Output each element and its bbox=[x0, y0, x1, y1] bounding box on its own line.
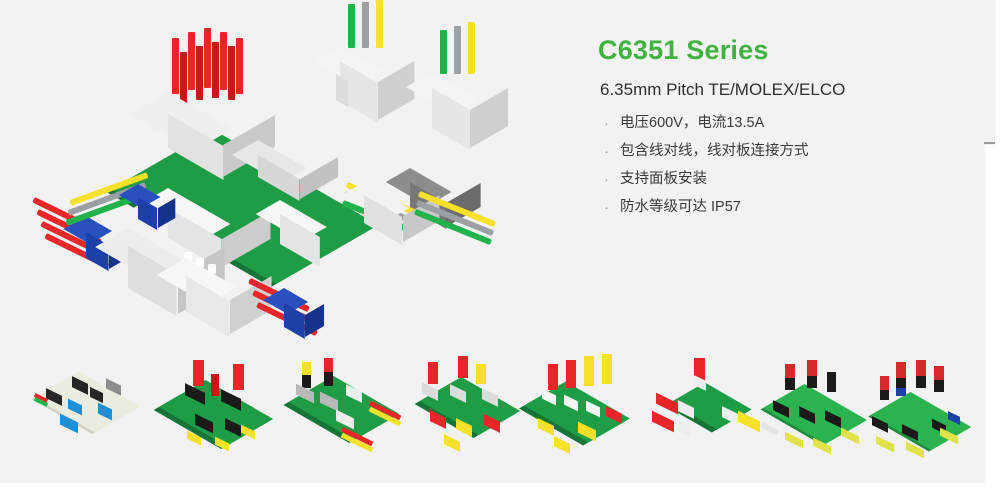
yellow-pin bbox=[376, 0, 383, 48]
product-subtitle: 6.35mm Pitch TE/MOLEX/ELCO bbox=[600, 80, 928, 100]
grey-pin bbox=[362, 2, 369, 48]
bullet-icon: · bbox=[604, 198, 620, 217]
spec-list: · 电压600V，电流13.5A · 包含线对线，线对板连接方式 · 支持面板安… bbox=[598, 114, 928, 217]
list-item[interactable] bbox=[20, 348, 170, 480]
thumb-board bbox=[34, 372, 140, 433]
bullet-icon: · bbox=[604, 170, 620, 189]
red-pin bbox=[188, 32, 195, 90]
spec-text: 防水等级可达 IP57 bbox=[620, 198, 741, 217]
red-pin bbox=[228, 46, 235, 100]
spec-text: 支持面板安装 bbox=[620, 170, 707, 189]
red-pin bbox=[212, 42, 219, 98]
product-banner: C6351 Series 6.35mm Pitch TE/MOLEX/ELCO … bbox=[0, 0, 1000, 488]
red-pin bbox=[220, 32, 227, 90]
red-pin bbox=[180, 52, 187, 104]
list-item[interactable] bbox=[862, 348, 1000, 480]
red-pin bbox=[204, 28, 211, 88]
list-item: · 电压600V，电流13.5A bbox=[604, 114, 928, 133]
yellow-pin bbox=[468, 22, 475, 74]
product-info-panel: C6351 Series 6.35mm Pitch TE/MOLEX/ELCO … bbox=[598, 36, 928, 226]
red-pin bbox=[172, 38, 179, 94]
red-pin bbox=[196, 46, 203, 100]
spec-text: 包含线对线，线对板连接方式 bbox=[620, 142, 809, 161]
page-edge-right bbox=[995, 0, 1000, 488]
green-pin bbox=[348, 4, 355, 48]
bullet-icon: · bbox=[604, 142, 620, 161]
product-thumbnail-strip bbox=[0, 348, 1000, 483]
page-edge-bottom bbox=[0, 483, 1000, 488]
grey-pin bbox=[454, 26, 461, 74]
green-pin bbox=[440, 30, 447, 74]
list-item: · 支持面板安装 bbox=[604, 170, 928, 189]
list-item: · 防水等级可达 IP57 bbox=[604, 198, 928, 217]
spec-text: 电压600V，电流13.5A bbox=[620, 114, 764, 133]
list-item: · 包含线对线，线对板连接方式 bbox=[604, 142, 928, 161]
page-title: C6351 Series bbox=[598, 36, 928, 66]
red-pin bbox=[236, 38, 243, 94]
hero-product-render bbox=[40, 0, 560, 350]
bullet-icon: · bbox=[604, 114, 620, 133]
